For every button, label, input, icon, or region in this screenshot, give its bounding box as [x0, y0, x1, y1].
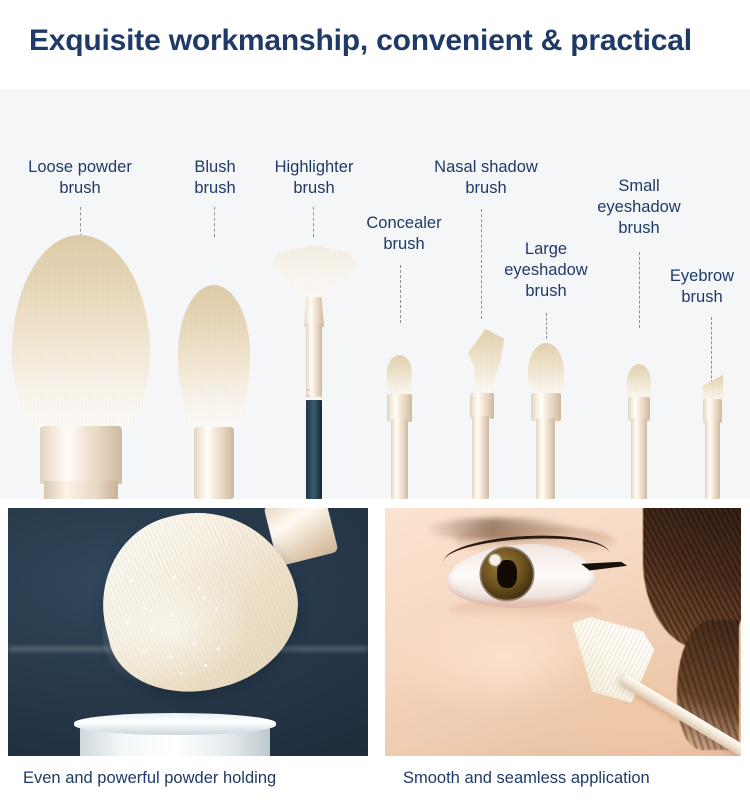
ferrule-concealer-brush	[387, 394, 412, 422]
eyeshadow-brush-icon-large	[528, 343, 564, 399]
label-nasal-shadow-brush: Nasal shadow brush	[412, 157, 560, 199]
leader-line-concealer-brush	[400, 265, 401, 323]
label-highlighter-brush: Highlighter brush	[255, 157, 373, 199]
ferrule-loose-powder-brush	[40, 426, 122, 484]
powder-jar-rim	[74, 713, 276, 735]
page-title: Exquisite workmanship, convenient & prac…	[29, 24, 692, 58]
label-blush-brush: Blush brush	[175, 157, 255, 199]
concealer-brush-icon	[387, 355, 412, 399]
ferrule-blush-brush	[194, 427, 234, 499]
ferrule-ring2-highlighter-brush	[306, 395, 322, 397]
powder-brush-over-jar-photo	[8, 508, 368, 756]
ferrule-large-eyeshadow-brush	[531, 393, 561, 421]
leader-line-blush-brush	[214, 207, 215, 237]
ferrule-highlighter-brush	[306, 323, 322, 397]
application-panel: Smooth and seamless application	[376, 499, 750, 800]
handle-highlighter-brush	[306, 400, 322, 499]
label-eyebrow-brush: Eyebrow brush	[653, 266, 750, 308]
caption-application: Smooth and seamless application	[385, 756, 741, 800]
handle-concealer-brush	[391, 419, 408, 499]
handle-loose-powder-brush	[44, 481, 118, 499]
leader-line-small-eyeshadow-brush	[639, 252, 640, 328]
handle-large-eyeshadow-brush	[536, 418, 555, 499]
handle-nasal-shadow-brush	[472, 416, 489, 499]
caption-powder-holding: Even and powerful powder holding	[8, 756, 368, 800]
lower-eyelid-highlight	[449, 600, 601, 620]
leader-line-nasal-shadow-brush	[481, 209, 482, 319]
title-band: Exquisite workmanship, convenient & prac…	[0, 0, 750, 89]
ferrule-ring-highlighter-brush	[306, 389, 322, 391]
leader-line-highlighter-brush	[313, 207, 314, 237]
eye-pupil	[497, 560, 517, 588]
label-large-eyeshadow-brush: Large eyeshadow brush	[487, 239, 605, 302]
label-concealer-brush: Concealer brush	[349, 213, 459, 255]
brush-lineup-section: Loose powder brush Blush brush Highlight…	[0, 89, 750, 499]
handle-eyebrow-brush	[705, 420, 720, 499]
leader-line-loose-powder-brush	[80, 207, 81, 237]
powder-holding-panel: Even and powerful powder holding	[0, 499, 372, 800]
angled-brush-icon	[462, 329, 504, 399]
handle-small-eyeshadow-brush	[631, 418, 647, 499]
fan-brush-on-face-photo	[385, 508, 741, 756]
label-small-eyeshadow-brush: Small eyeshadow brush	[580, 176, 698, 239]
powder-brush-icon	[12, 235, 150, 438]
label-loose-powder-brush: Loose powder brush	[6, 157, 154, 199]
leader-line-large-eyeshadow-brush	[546, 313, 547, 339]
blush-brush-icon	[178, 285, 250, 435]
product-infographic: Exquisite workmanship, convenient & prac…	[0, 0, 750, 800]
